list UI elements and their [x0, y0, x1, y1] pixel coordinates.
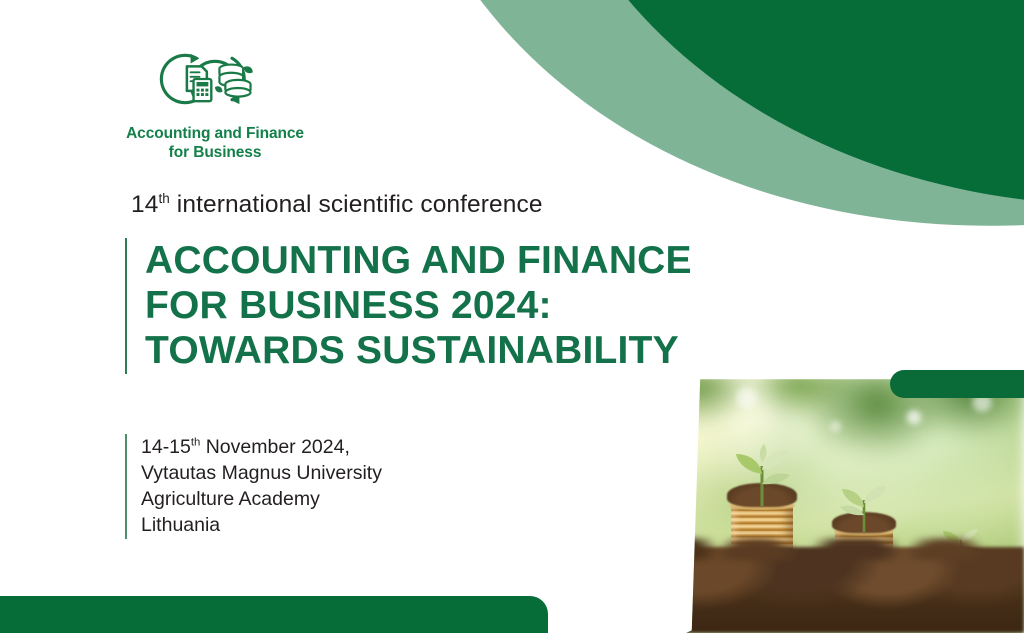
- seedling-icon-3: [728, 444, 796, 506]
- conference-poster: Accounting and Finance for Business 14th…: [0, 0, 1024, 633]
- venue-date-ordinal: th: [191, 437, 200, 449]
- logo-text-line2: for Business: [104, 143, 326, 162]
- page-title: ACCOUNTING AND FINANCE FOR BUSINESS 2024…: [145, 238, 692, 374]
- accounting-finance-cycle-icon: [152, 42, 278, 116]
- venue-country: Lithuania: [141, 514, 220, 536]
- venue-date-number: 14-15: [141, 436, 191, 458]
- coin-stacks-photo: [500, 372, 1024, 633]
- venue-details: 14-15th November 2024,Vytautas Magnus Un…: [141, 434, 382, 539]
- seedling-icon-1: [529, 520, 575, 560]
- photo-green-tab: [890, 370, 1024, 398]
- conference-logo: Accounting and Finance for Business: [104, 42, 326, 163]
- photo-soil: [500, 547, 1024, 633]
- seedling-icon-2: [627, 485, 683, 535]
- edition-number: 14: [131, 191, 158, 218]
- venue-academy: Agriculture Academy: [141, 488, 320, 510]
- edition-ordinal: th: [158, 191, 169, 206]
- seedling-icon-4: [835, 480, 893, 532]
- venue-university: Vytautas Magnus University: [141, 462, 382, 484]
- venue-block: 14-15th November 2024,Vytautas Magnus Un…: [125, 434, 382, 539]
- bottom-left-green-bar: [0, 596, 548, 633]
- edition-rest: international scientific conference: [170, 191, 543, 218]
- logo-text: Accounting and Finance for Business: [104, 124, 326, 163]
- page-title-block: ACCOUNTING AND FINANCE FOR BUSINESS 2024…: [125, 238, 692, 374]
- calculator-icon: [194, 79, 212, 101]
- coin-stack-2: [626, 534, 684, 610]
- venue-date-rest: November 2024,: [200, 436, 350, 458]
- logo-text-line1: Accounting and Finance: [104, 124, 326, 143]
- conference-edition-label: 14th international scientific conference: [131, 191, 543, 219]
